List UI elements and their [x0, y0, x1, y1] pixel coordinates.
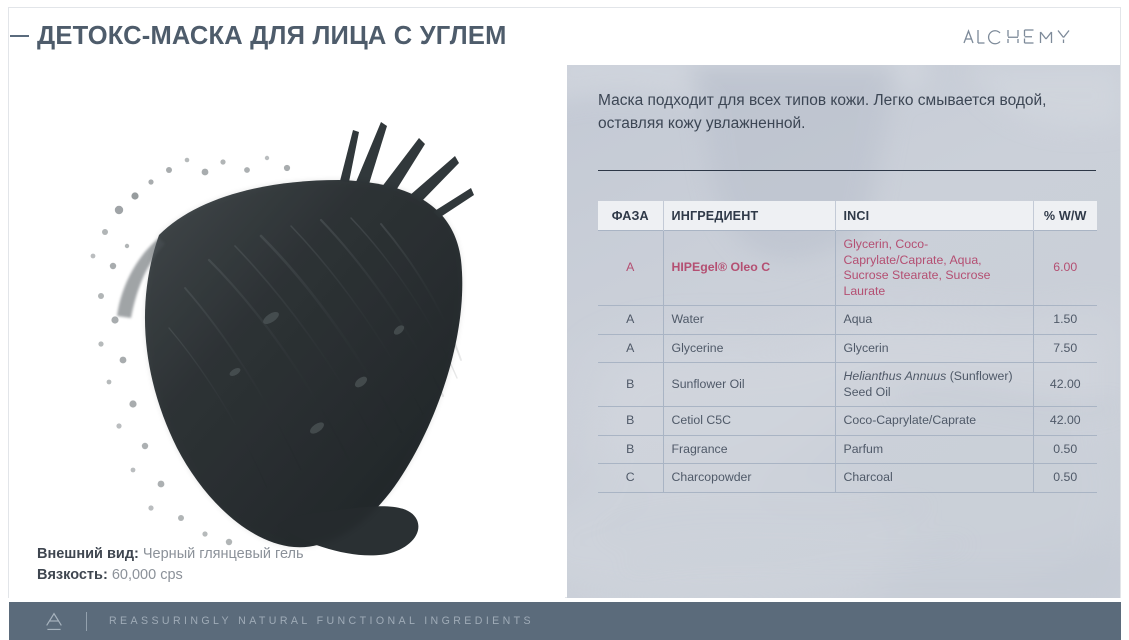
cell-phase: B [598, 407, 663, 436]
cell-phase: A [598, 334, 663, 363]
cell-percent: 1.50 [1033, 306, 1097, 335]
cell-percent: 42.00 [1033, 407, 1097, 436]
cell-ingredient: HIPEgel® Oleo C [663, 231, 835, 306]
cell-ingredient: Water [663, 306, 835, 335]
cell-ingredient: Cetiol C5C [663, 407, 835, 436]
cell-inci: Charcoal [835, 464, 1033, 493]
inci-scientific-name: Helianthus Annuus [844, 369, 947, 383]
column-header-inci: INCI [835, 201, 1033, 231]
page-title: ДЕТОКС-МАСКА ДЛЯ ЛИЦА С УГЛЕМ [37, 18, 507, 54]
cell-percent: 0.50 [1033, 464, 1097, 493]
alchemy-a-mark-icon [39, 610, 69, 632]
ingredients-table-body: A HIPEgel® Oleo C Glycerin, Coco-Capryla… [598, 231, 1097, 493]
footer-divider [86, 612, 87, 631]
appearance-label: Внешний вид: [37, 546, 139, 562]
charcoal-smear-image [9, 60, 565, 560]
column-header-phase: ФАЗА [598, 201, 663, 231]
product-image-panel: Внешний вид: Черный глянцевый гель Вязко… [9, 60, 565, 598]
cell-ingredient: Charcopowder [663, 464, 835, 493]
viscosity-label: Вязкость: [37, 567, 108, 583]
slide: ДЕТОКС-МАСКА ДЛЯ ЛИЦА С УГЛЕМ [0, 0, 1129, 640]
cell-phase: A [598, 306, 663, 335]
cell-ingredient: Fragrance [663, 435, 835, 464]
column-header-ingredient: ИНГРЕДИЕНТ [663, 201, 835, 231]
appearance-value: Черный глянцевый гель [143, 546, 304, 562]
cell-phase: A [598, 231, 663, 306]
footer-bar: REASSURINGLY NATURAL FUNCTIONAL INGREDIE… [9, 602, 1121, 640]
dash-icon [10, 35, 29, 37]
ingredients-table: ФАЗА ИНГРЕДИЕНТ INCI % W/W A HIPEgel® Ol… [598, 201, 1097, 493]
ingredients-table-header: ФАЗА ИНГРЕДИЕНТ INCI % W/W [598, 201, 1097, 231]
cell-ingredient: Sunflower Oil [663, 363, 835, 407]
viscosity-value: 60,000 cps [112, 567, 183, 583]
product-properties: Внешний вид: Черный глянцевый гель Вязко… [37, 544, 304, 586]
table-row: A Glycerine Glycerin 7.50 [598, 334, 1097, 363]
cell-phase: B [598, 363, 663, 407]
cell-inci: Glycerin, Coco-Caprylate/Caprate, Aqua, … [835, 231, 1033, 306]
cell-inci: Aqua [835, 306, 1033, 335]
cell-percent: 0.50 [1033, 435, 1097, 464]
table-header-row: ФАЗА ИНГРЕДИЕНТ INCI % W/W [598, 201, 1097, 231]
column-header-percent: % W/W [1033, 201, 1097, 231]
table-row: A HIPEgel® Oleo C Glycerin, Coco-Capryla… [598, 231, 1097, 306]
table-row: C Charcopowder Charcoal 0.50 [598, 464, 1097, 493]
panel-divider [598, 170, 1096, 171]
footer-tagline: REASSURINGLY NATURAL FUNCTIONAL INGREDIE… [109, 615, 534, 627]
cell-percent: 42.00 [1033, 363, 1097, 407]
cell-phase: C [598, 464, 663, 493]
alchemy-logo [962, 26, 1096, 50]
appearance-line: Внешний вид: Черный глянцевый гель [37, 544, 304, 565]
table-row: B Cetiol C5C Coco-Caprylate/Caprate 42.0… [598, 407, 1097, 436]
cell-percent: 7.50 [1033, 334, 1097, 363]
cell-phase: B [598, 435, 663, 464]
slide-header: ДЕТОКС-МАСКА ДЛЯ ЛИЦА С УГЛЕМ [0, 18, 1129, 58]
table-row: A Water Aqua 1.50 [598, 306, 1097, 335]
table-row: B Fragrance Parfum 0.50 [598, 435, 1097, 464]
cell-inci: Glycerin [835, 334, 1033, 363]
product-description: Маска подходит для всех типов кожи. Легк… [598, 90, 1058, 135]
viscosity-line: Вязкость: 60,000 cps [37, 565, 304, 586]
cell-inci: Parfum [835, 435, 1033, 464]
cell-percent: 6.00 [1033, 231, 1097, 306]
cell-inci: Coco-Caprylate/Caprate [835, 407, 1033, 436]
cell-inci: Helianthus Annuus (Sunflower) Seed Oil [835, 363, 1033, 407]
info-panel: Маска подходит для всех типов кожи. Легк… [567, 65, 1120, 598]
cell-ingredient: Glycerine [663, 334, 835, 363]
table-row: B Sunflower Oil Helianthus Annuus (Sunfl… [598, 363, 1097, 407]
